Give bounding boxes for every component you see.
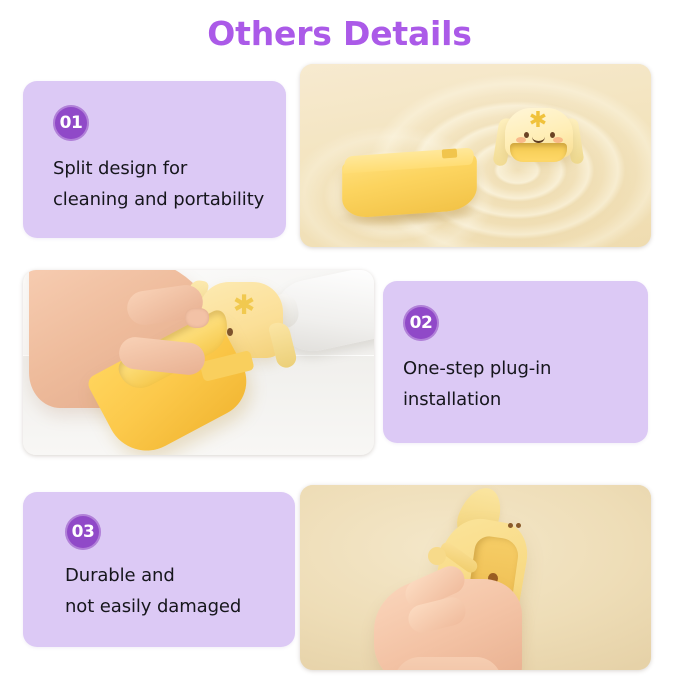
- product-detail-page: Others Details 01 Split design for clean…: [0, 0, 679, 679]
- eye-right: [550, 132, 555, 138]
- thumbnail: [185, 308, 209, 328]
- photo-hand-installing-on-faucet: ✱: [23, 270, 374, 455]
- eye-right: [227, 328, 233, 336]
- spout-notch: [442, 148, 458, 158]
- photo-hand-squeezing-silicone: [300, 485, 651, 670]
- feature-text-02: One-step plug-in installation: [403, 353, 633, 415]
- star-icon: ✱: [231, 292, 257, 318]
- feature-badge-01: 01: [53, 105, 89, 141]
- page-title: Others Details: [0, 14, 679, 53]
- feature-card-02: 02 One-step plug-in installation: [383, 281, 648, 443]
- feature-card-03: 03 Durable and not easily damaged: [23, 492, 295, 647]
- photo-split-pieces-in-water: ✱: [300, 64, 651, 247]
- feature-badge-03: 03: [65, 514, 101, 550]
- star-icon: ✱: [528, 110, 548, 130]
- head-opening: [510, 143, 567, 162]
- feature-badge-02: 02: [403, 305, 439, 341]
- eye-left: [508, 523, 513, 528]
- hand-nub-upper: [428, 547, 446, 565]
- feature-text-01: Split design for cleaning and portabilit…: [53, 153, 273, 215]
- eye-right: [516, 523, 521, 528]
- feature-text-03: Durable and not easily damaged: [65, 560, 295, 622]
- feature-card-01: 01 Split design for cleaning and portabi…: [23, 81, 286, 238]
- eye-left: [524, 132, 529, 138]
- wrist: [394, 657, 502, 670]
